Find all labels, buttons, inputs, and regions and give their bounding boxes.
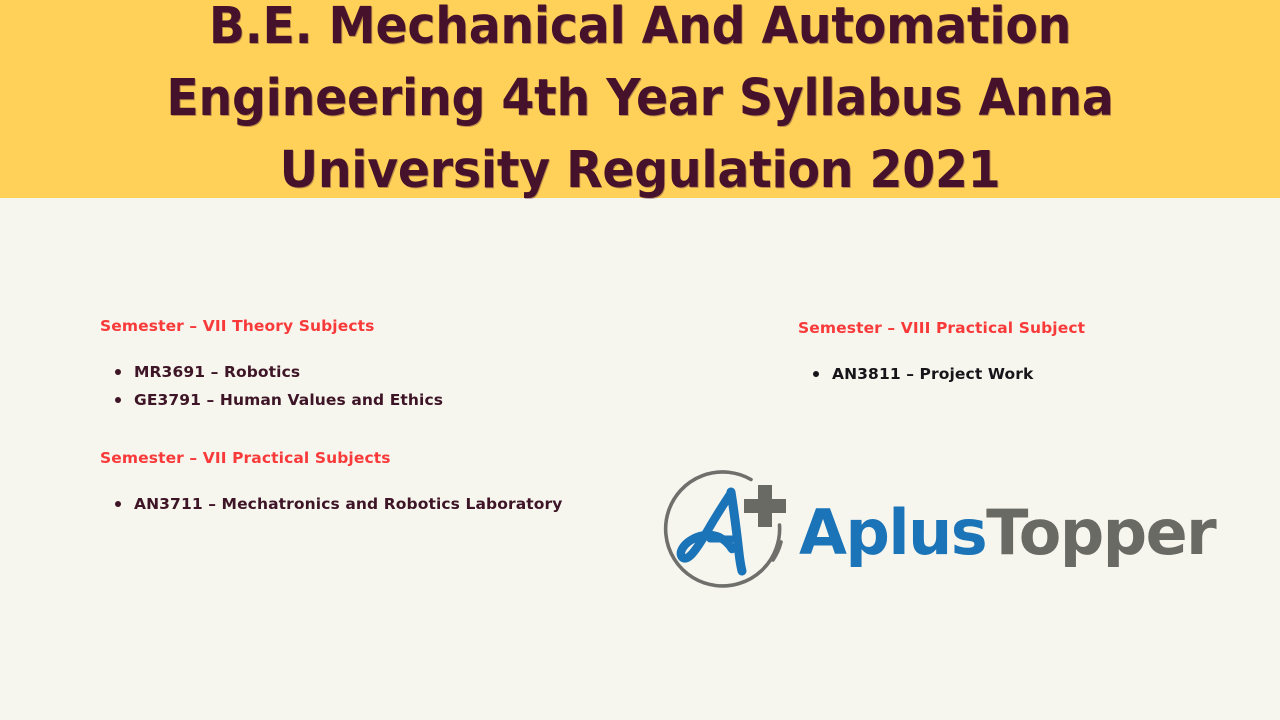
subject-list-sem8-practical: AN3811 – Project Work <box>798 360 1218 388</box>
content-area: Semester – VII Theory Subjects MR3691 – … <box>0 198 1280 720</box>
list-item: AN3811 – Project Work <box>798 360 1218 388</box>
section-heading-sem7-theory: Semester – VII Theory Subjects <box>100 316 660 336</box>
list-item: GE3791 – Human Values and Ethics <box>100 386 660 414</box>
section-spacer <box>100 414 660 448</box>
subject-list-sem7-practical: AN3711 – Mechatronics and Robotics Labor… <box>100 490 660 518</box>
right-column: Semester – VIII Practical Subject AN3811… <box>798 318 1218 388</box>
list-item: MR3691 – Robotics <box>100 358 660 386</box>
left-column: Semester – VII Theory Subjects MR3691 – … <box>100 316 660 518</box>
page-title: B.E. Mechanical And Automation Engineeri… <box>110 0 1170 207</box>
site-logo: AplusTopper <box>655 463 1165 603</box>
logo-word-aplus: Aplus <box>799 496 986 569</box>
section-heading-sem7-practical: Semester – VII Practical Subjects <box>100 448 660 468</box>
logo-word-topper: Topper <box>986 496 1215 569</box>
list-item: AN3711 – Mechatronics and Robotics Labor… <box>100 490 660 518</box>
a-plus-circle-emblem-icon <box>655 463 795 603</box>
page-root: B.E. Mechanical And Automation Engineeri… <box>0 0 1280 720</box>
logo-wordmark: AplusTopper <box>799 502 1215 564</box>
subject-list-sem7-theory: MR3691 – Robotics GE3791 – Human Values … <box>100 358 660 414</box>
header-banner: B.E. Mechanical And Automation Engineeri… <box>0 0 1280 198</box>
section-heading-sem8-practical: Semester – VIII Practical Subject <box>798 318 1218 338</box>
